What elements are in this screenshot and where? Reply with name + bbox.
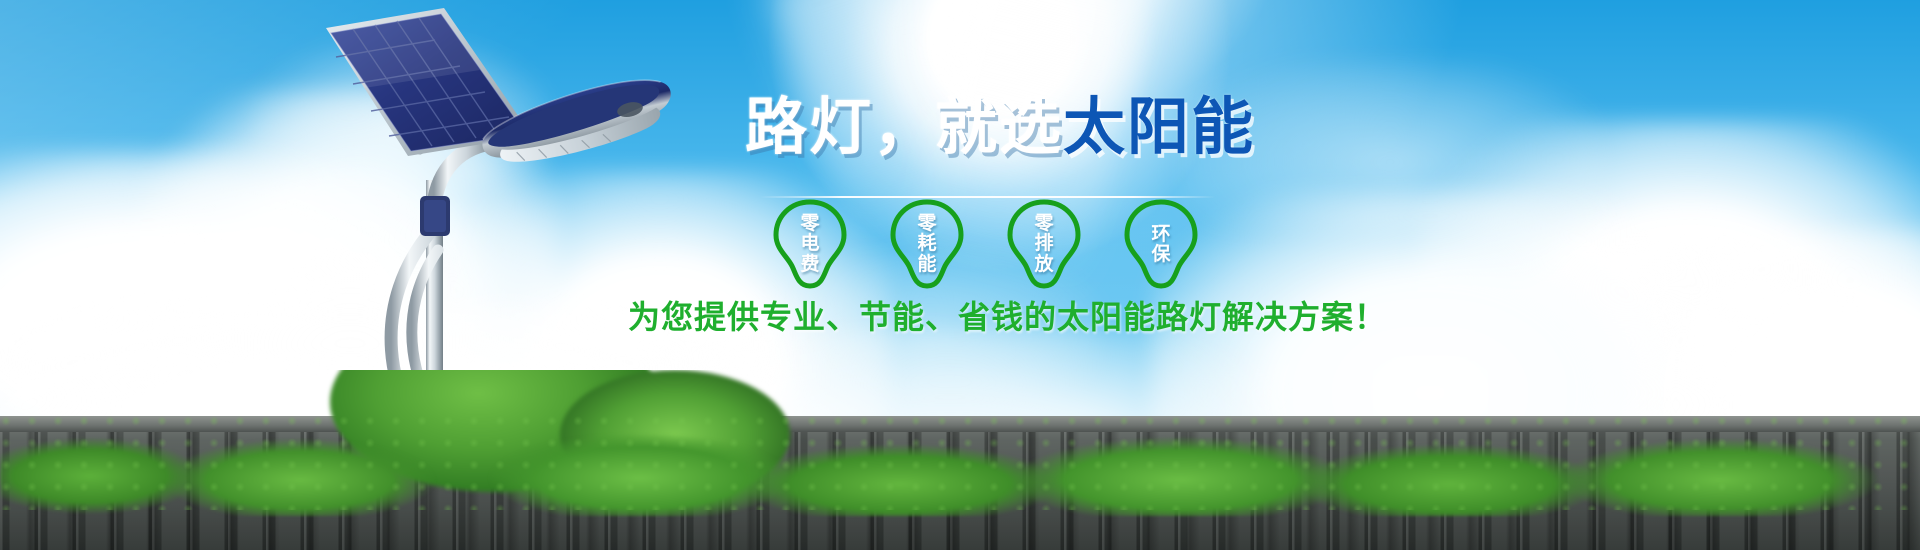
feature-badge-line1: 排 (1034, 234, 1053, 253)
feature-badge-line2: 保 (1151, 245, 1170, 264)
feature-badge-list: 零 电 费 零 耗 能 零 (770, 198, 1201, 290)
headline-part2: 就选 (935, 90, 1063, 163)
headline-comma: ， (873, 90, 935, 163)
foliage-layer (0, 370, 1920, 550)
feature-badge: 零 耗 能 (887, 198, 967, 290)
feature-badge-line2: 费 (800, 255, 819, 274)
feature-badge-text: 环 保 (1151, 224, 1170, 265)
feature-badge-line1: 耗 (917, 234, 936, 253)
feature-badge-zero: 零 (1034, 214, 1053, 233)
feature-badge-text: 零 电 费 (800, 214, 819, 274)
feature-badge-text: 零 排 放 (1034, 214, 1053, 274)
feature-badge: 零 排 放 (1004, 198, 1084, 290)
banner-tagline: 为您提供专业、节能、省钱的太阳能路灯解决方案！ (628, 292, 1387, 338)
feature-badge-line2: 放 (1034, 255, 1053, 274)
vine-leaf-texture (0, 415, 1920, 510)
banner-headline: 路灯，就选太阳能 (745, 96, 1255, 158)
feature-badge: 零 电 费 (770, 198, 850, 290)
feature-badge-zero: 零 (917, 214, 936, 233)
feature-badge-text: 零 耗 能 (917, 214, 936, 274)
solar-street-lamp-banner: 路灯，就选太阳能 零 电 费 零 耗 (0, 0, 1920, 550)
feature-badge-line1: 环 (1151, 225, 1170, 244)
feature-badge-zero: 零 (800, 214, 819, 233)
feature-badge-line1: 电 (800, 234, 819, 253)
feature-badge: 环 保 (1121, 198, 1201, 290)
headline-part1: 路灯 (745, 90, 873, 163)
headline-accent: 太阳能 (1063, 90, 1255, 163)
feature-badge-line2: 能 (917, 255, 936, 274)
